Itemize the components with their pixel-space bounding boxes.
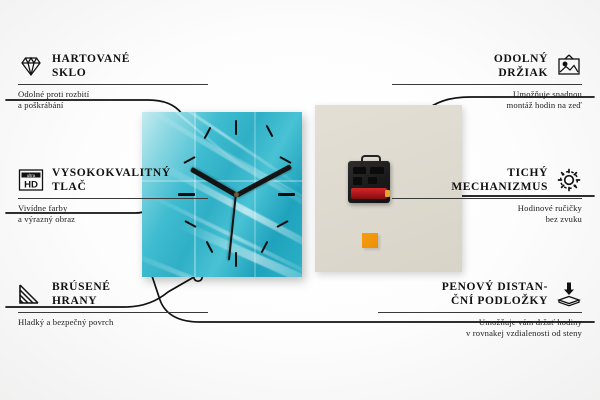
feature-title-line-1: HARTOVANÉ xyxy=(52,53,130,65)
ultra-hd-icon: ultra HD xyxy=(18,167,44,193)
gear-icon xyxy=(556,167,582,193)
clock-mechanism xyxy=(348,161,390,203)
feature-divider xyxy=(18,84,208,85)
hatched-edge-icon xyxy=(18,281,44,307)
feature-divider xyxy=(392,84,582,85)
feature-desc-line-1: Odolné proti rozbití xyxy=(18,89,89,99)
feature-desc-line-1: Umožňuje snadnou xyxy=(513,89,582,99)
feature-polished-edges: BRÚSENÉ HRANY Hladký a bezpečný povrch xyxy=(18,280,208,328)
feature-desc-line-2: montáž hodin na zeď xyxy=(507,100,582,110)
feature-divider xyxy=(18,198,208,199)
feature-title-line-2: ČNÍ PODLOŽKY xyxy=(451,295,548,307)
clock-tick xyxy=(279,156,291,164)
battery xyxy=(351,188,387,199)
feature-title-line-2: DRŽIAK xyxy=(498,67,548,79)
clock-tick xyxy=(266,125,274,137)
feature-divider xyxy=(18,312,208,313)
feature-desc-line-1: Vivídne farby xyxy=(18,203,67,213)
clock-center-pin xyxy=(234,192,239,197)
feature-title-line-1: PENOVÝ DISTAN- xyxy=(442,281,548,293)
feature-title-line-2: TLAČ xyxy=(52,181,86,193)
mechanism-detail xyxy=(368,177,377,184)
feature-desc-line-2: a výrazný obraz xyxy=(18,214,75,224)
feature-title-line-1: VYSOKOKVALITNÝ xyxy=(52,167,171,179)
feature-desc-line-2: a poškrábání xyxy=(18,100,63,110)
feature-title-line-1: ODOLNÝ xyxy=(494,53,548,65)
foam-spacer-pad xyxy=(362,233,378,248)
feature-tempered-glass: HARTOVANÉ SKLO Odolné proti rozbití a po… xyxy=(18,52,208,111)
ultra-hd-icon-large-text: HD xyxy=(24,180,38,191)
feature-title-line-1: BRÚSENÉ xyxy=(52,281,111,293)
feature-desc-line-2: v rovnakej vzdialenosti od steny xyxy=(466,328,582,338)
feature-divider xyxy=(392,198,582,199)
feature-desc-line-1: Umožňuje vám držať hodiny xyxy=(479,317,582,327)
mechanism-detail xyxy=(370,167,384,174)
feature-desc-line-2: bez zvuku xyxy=(546,214,582,224)
infographic-canvas: HARTOVANÉ SKLO Odolné proti rozbití a po… xyxy=(0,0,600,400)
feature-high-quality-print: ultra HD VYSOKOKVALITNÝ TLAČ Vivídne far… xyxy=(18,166,208,225)
feature-divider xyxy=(378,312,582,313)
mechanism-detail xyxy=(353,167,366,174)
feature-title-line-1: TICHÝ xyxy=(507,167,548,179)
clock-tick xyxy=(235,120,237,135)
clock-tick xyxy=(235,252,237,267)
feature-durable-hanger: ODOLNÝ DRŽIAK Umožňuje snadnou montáž ho… xyxy=(392,52,582,111)
picture-frame-icon xyxy=(556,53,582,79)
stacked-pad-arrow-icon xyxy=(556,281,582,307)
diamond-icon xyxy=(18,53,44,79)
feature-desc-line-1: Hladký a bezpečný povrch xyxy=(18,317,113,327)
mechanism-detail xyxy=(353,177,362,185)
feature-desc-line-1: Hodinové ručičky xyxy=(518,203,582,213)
ultra-hd-icon-small-text: ultra xyxy=(27,173,36,178)
feature-foam-spacers: PENOVÝ DISTAN- ČNÍ PODLOŽKY Umožňuje vám… xyxy=(378,280,582,339)
clock-tick xyxy=(278,193,295,196)
feature-silent-mechanism: TICHÝ MECHANIZMUS Hodinové ručičky bez z… xyxy=(392,166,582,225)
feature-title-line-2: MECHANIZMUS xyxy=(451,181,548,193)
glass-panel-seam xyxy=(254,112,256,277)
feature-title-line-2: HRANY xyxy=(52,295,97,307)
feature-title-line-2: SKLO xyxy=(52,67,86,79)
hanger-icon xyxy=(361,155,381,166)
